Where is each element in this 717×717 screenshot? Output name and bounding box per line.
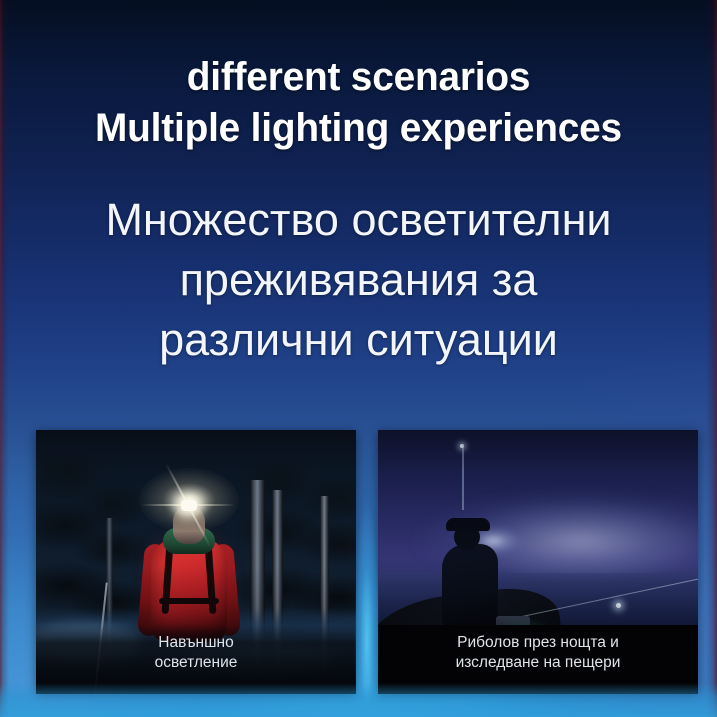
headline-bulgarian-line-2: преживявания за [28,250,689,310]
headline-english: different scenarios Multiple lighting ex… [11,52,706,154]
caption-line-1: Риболов през нощта и [388,633,688,653]
headline-bulgarian-line-1: Множество осветителни [28,190,689,250]
card-caption-night-fishing: Риболов през нощта и изследване на пещер… [378,625,698,694]
headline-english-line-2: Multiple lighting experiences [24,103,692,154]
caption-line-2: изследване на пещери [388,653,688,673]
headline-bulgarian: Множество осветителни преживявания за ра… [0,190,717,370]
caption-line-1: Навъншно [46,633,346,653]
card-caption-outdoor-lighting: Навъншно осветление [36,625,356,694]
headline-block: different scenarios Multiple lighting ex… [0,52,717,370]
headline-bulgarian-line-3: различни ситуации [28,310,689,370]
card-outdoor-lighting[interactable]: Навъншно осветление [36,430,356,694]
headline-english-line-1: different scenarios [187,55,530,99]
caption-line-2: осветление [46,653,346,673]
card-row: Навъншно осветление [36,430,698,694]
card-night-fishing-caving[interactable]: Риболов през нощта и изследване на пещер… [378,430,698,694]
promo-banner: different scenarios Multiple lighting ex… [0,0,717,717]
